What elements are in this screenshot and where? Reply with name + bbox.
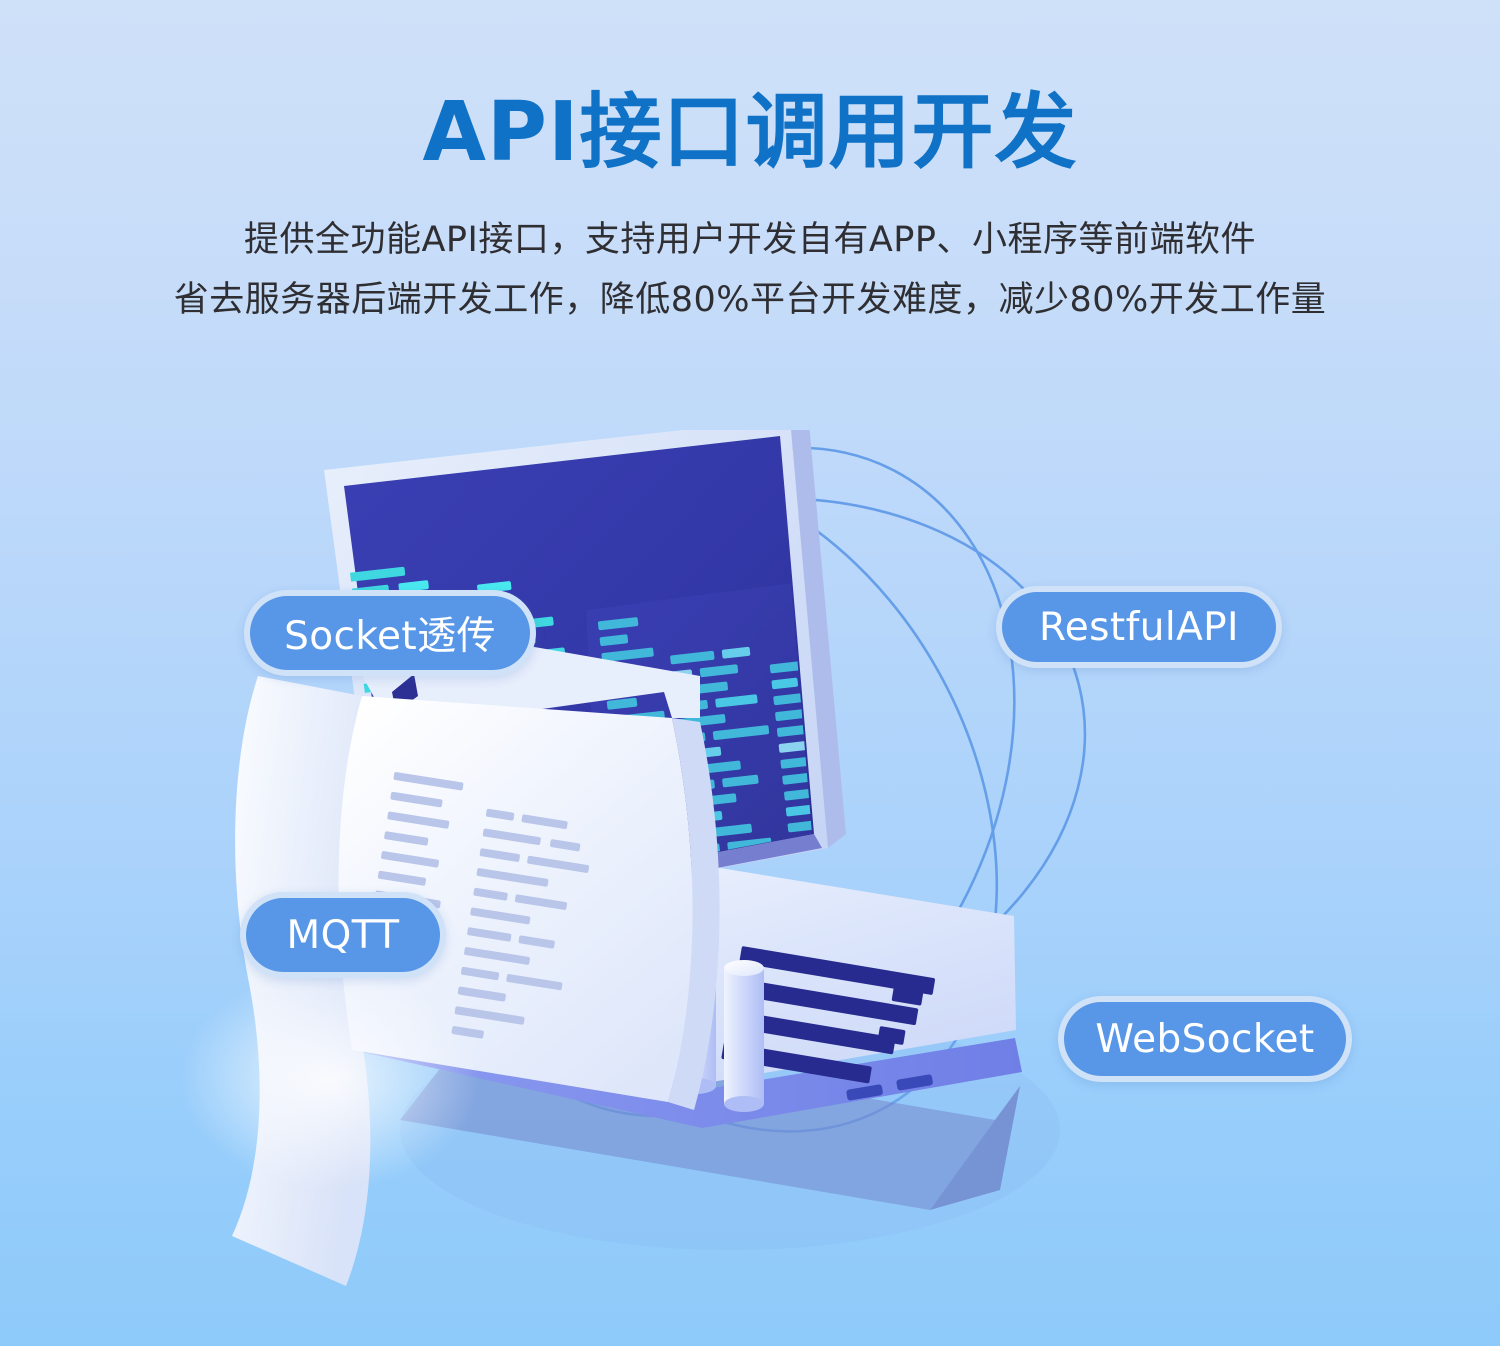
tag-restful-api[interactable]: RestfulAPI [996,586,1282,668]
cylinder-bar-5 [724,960,764,1112]
tag-mqtt[interactable]: MQTT [240,892,446,978]
subtitle-line-2: 省去服务器后端开发工作，降低80%平台开发难度，减少80%开发工作量 [0,270,1500,330]
header-block: API接口调用开发 提供全功能API接口，支持用户开发自有APP、小程序等前端软… [0,0,1500,330]
tag-socket-passthrough[interactable]: Socket透传 [244,590,536,676]
hero-illustration [0,430,1500,1346]
poster-canvas: API接口调用开发 提供全功能API接口，支持用户开发自有APP、小程序等前端软… [0,0,1500,1346]
subtitle-line-1: 提供全功能API接口，支持用户开发自有APP、小程序等前端软件 [0,210,1500,270]
page-title: API接口调用开发 [0,0,1500,174]
page-subtitle: 提供全功能API接口，支持用户开发自有APP、小程序等前端软件 省去服务器后端开… [0,174,1500,330]
tag-websocket[interactable]: WebSocket [1058,996,1352,1082]
paper-glow [180,970,480,1190]
illustration-svg [0,430,1500,1346]
